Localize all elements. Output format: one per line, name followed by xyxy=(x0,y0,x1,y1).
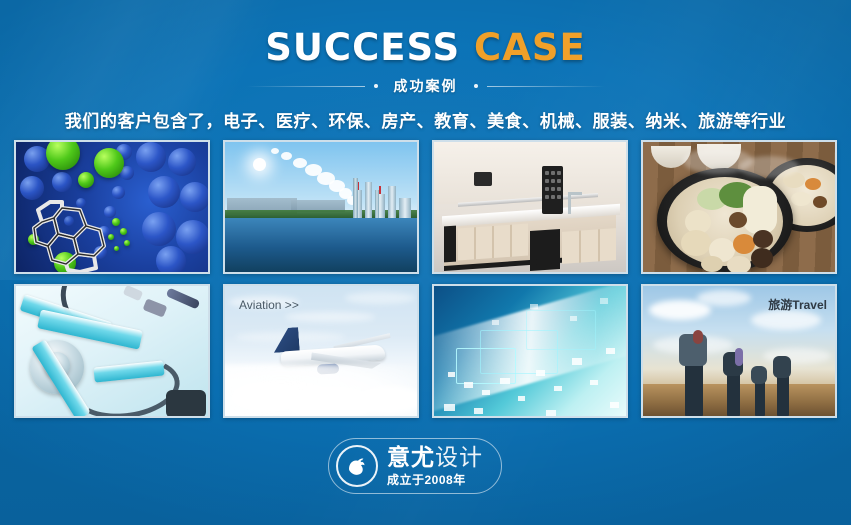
case-cell-travel[interactable]: 旅游Travel xyxy=(641,284,837,418)
travel-image: 旅游Travel xyxy=(643,286,835,416)
case-cell-nanotechnology[interactable] xyxy=(14,140,210,274)
logo-tagline: 成立于2008年 xyxy=(387,474,483,486)
divider-dot-right xyxy=(474,84,478,88)
company-logo[interactable]: 意尤设计 成立于2008年 xyxy=(328,438,502,494)
case-cell-food-hotpot[interactable] xyxy=(641,140,837,274)
divider-left xyxy=(247,86,365,87)
logo-name: 意尤设计 xyxy=(387,446,483,469)
environmental-protection-image xyxy=(225,142,417,272)
section-header: SUCCESS CASE 成功案例 我们的客户包含了，电子、医疗、环保、房产、教… xyxy=(0,0,851,132)
page-subtitle: 成功案例 xyxy=(387,76,465,96)
medical-image xyxy=(16,286,208,416)
title-word-success: SUCCESS xyxy=(265,26,460,69)
case-cell-electronics-circuit[interactable] xyxy=(432,284,628,418)
laboratory-furniture-image xyxy=(434,142,626,272)
case-cell-environmental-protection[interactable] xyxy=(223,140,419,274)
case-cell-medical[interactable] xyxy=(14,284,210,418)
divider-right xyxy=(487,86,605,87)
case-gallery-grid: Aviation >> xyxy=(0,140,851,418)
food-hotpot-image xyxy=(643,142,835,272)
factory-shape xyxy=(353,180,415,220)
electronics-circuit-image xyxy=(434,286,626,416)
subtitle-row: 成功案例 xyxy=(0,77,851,95)
case-cell-laboratory-furniture[interactable] xyxy=(432,140,628,274)
case-cell-aviation[interactable]: Aviation >> xyxy=(223,284,419,418)
title-word-case: CASE xyxy=(474,26,586,69)
page-title: SUCCESS CASE xyxy=(0,28,851,68)
aviation-caption: Aviation >> xyxy=(239,298,299,312)
travel-caption: 旅游Travel xyxy=(768,296,827,313)
fullerene-icon xyxy=(28,200,114,272)
logo-name-bold: 意尤 xyxy=(387,444,435,470)
divider-dot-left xyxy=(374,84,378,88)
sun-icon xyxy=(253,158,266,171)
aviation-image: Aviation >> xyxy=(225,286,417,416)
page-root: SUCCESS CASE 成功案例 我们的客户包含了，电子、医疗、环保、房产、教… xyxy=(0,0,851,525)
industries-line: 我们的客户包含了，电子、医疗、环保、房产、教育、美食、机械、服装、纳米、旅游等行… xyxy=(0,107,851,132)
logo-name-light: 设计 xyxy=(435,444,483,470)
bird-mark-icon xyxy=(336,445,378,487)
control-panel-shape xyxy=(542,166,563,214)
nanotechnology-image xyxy=(16,142,208,272)
logo-text-block: 意尤设计 成立于2008年 xyxy=(387,446,483,486)
